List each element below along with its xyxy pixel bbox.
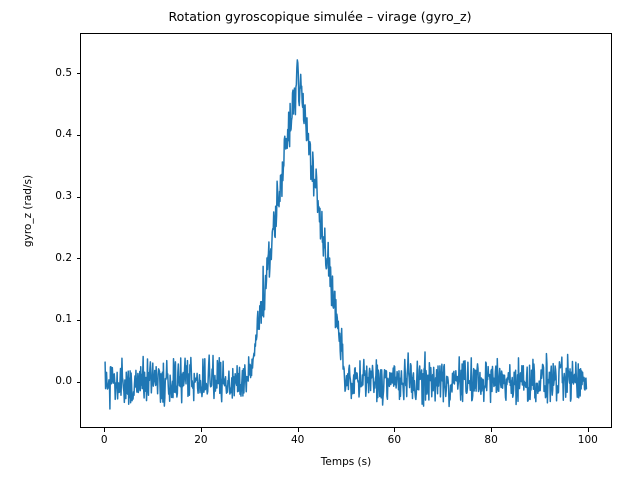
chart-figure: Rotation gyroscopique simulée – virage (… [0,0,640,480]
x-tick-label: 100 [558,434,618,446]
x-tick-mark [491,428,492,432]
y-tick-mark [77,258,81,259]
y-tick-mark [77,382,81,383]
y-axis-label: gyro_z (rad/s) [22,131,34,291]
plot-area [80,33,612,428]
y-tick-label: 0.4 [0,129,72,140]
y-tick-mark [77,197,81,198]
chart-title: Rotation gyroscopique simulée – virage (… [0,9,640,25]
x-tick-mark [201,428,202,432]
x-tick-label: 40 [268,434,328,446]
y-tick-label: 0.1 [0,314,72,325]
x-tick-label: 80 [461,434,521,446]
y-tick-mark [77,73,81,74]
y-tick-label: 0.5 [0,68,72,79]
x-tick-mark [588,428,589,432]
y-tick-label: 0.0 [0,376,72,387]
x-tick-mark [104,428,105,432]
y-tick-mark [77,135,81,136]
y-tick-label: 0.3 [0,191,72,202]
x-tick-label: 20 [171,434,231,446]
x-tick-label: 0 [74,434,134,446]
x-tick-mark [394,428,395,432]
x-axis-label: Temps (s) [80,456,612,468]
y-tick-label: 0.2 [0,253,72,264]
gyro-z-trace [81,34,611,427]
x-tick-mark [298,428,299,432]
x-tick-label: 60 [364,434,424,446]
y-tick-mark [77,320,81,321]
